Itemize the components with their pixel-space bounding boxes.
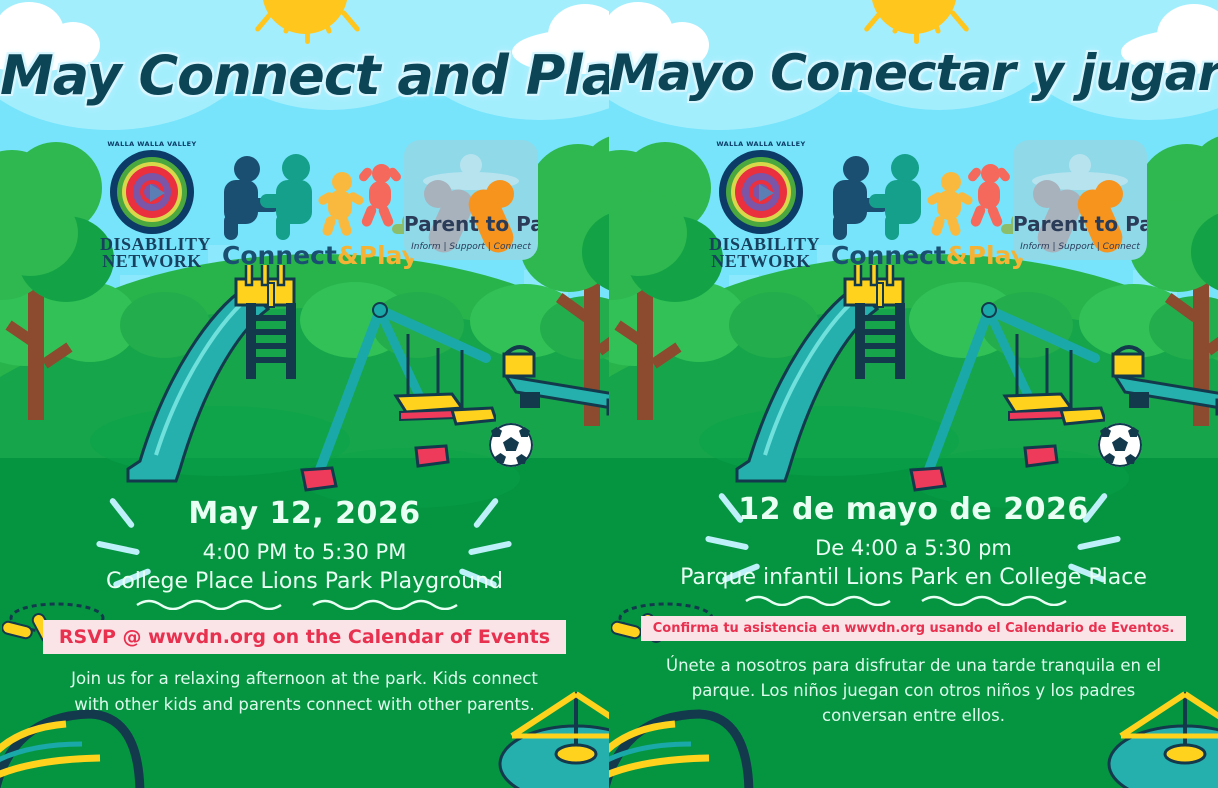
dn-line2: NETWORK [100,253,204,270]
logo-parent-to-parent: Parent to Parent Inform | Support | Conn… [1013,140,1147,260]
logo-parent-to-parent: Parent to Parent Inform | Support | Conn… [404,140,538,260]
cp-ampersand: & [946,241,968,270]
dn-arc-text: WALLA WALLA VALLEY [709,140,813,148]
rsvp-badge[interactable]: RSVP @ wwvdn.org on the Calendar of Even… [43,620,566,654]
connect-play-wordmark: Connect&Play [222,241,382,270]
connect-play-wordmark: Connect&Play [831,241,991,270]
logo-disability-network: WALLA WALLA VALLEY DISABILITY NETWORK [709,142,813,270]
connect-play-figures-icon [831,146,991,232]
dn-emblem-icon [719,150,803,234]
soccer-ball-icon [1098,423,1142,467]
event-details: May 12, 2026 4:00 PM to 5:30 PM College … [0,496,609,718]
event-location: Parque infantil Lions Park en College Pl… [609,565,1218,590]
connect-play-figures-icon [222,146,382,232]
dn-arc-text: WALLA WALLA VALLEY [100,140,204,148]
event-date: May 12, 2026 [0,496,609,531]
p2p-figures-icon [460,154,482,176]
event-details: 12 de mayo de 2026 De 4:00 a 5:30 pm Par… [609,492,1218,728]
playground-swing-set [296,300,496,500]
logo-connect-and-play: Connect&Play [222,146,382,268]
event-time: 4:00 PM to 5:30 PM [0,540,609,564]
p2p-name: Parent to Parent [404,212,538,236]
squiggle-underline [135,598,475,610]
poster-english: May Connect and Play WALLA WALLA VALLEY … [0,0,609,788]
cp-ampersand: & [337,241,359,270]
poster-spanish: Mayo Conectar y jugar WALLA WALLA VALLEY… [609,0,1218,788]
playground-slide [727,265,927,495]
rsvp-badge[interactable]: Confirma tu asistencia en wwvdn.org usan… [641,616,1187,641]
playground-swing-set [905,300,1105,500]
logo-row: WALLA WALLA VALLEY DISABILITY NETWORK [609,140,1218,270]
logo-row: WALLA WALLA VALLEY DISABILITY NETWORK [0,140,609,270]
p2p-tagline: Inform | Support | Connect [1013,242,1147,252]
playground-slide [118,265,318,495]
cp-word-connect: Connect [831,241,946,270]
dn-line2: NETWORK [709,253,813,270]
squiggle-underline [744,594,1084,606]
logo-connect-and-play: Connect&Play [831,146,991,268]
cp-word-connect: Connect [222,241,337,270]
p2p-tagline: Inform | Support | Connect [404,242,538,252]
logo-disability-network: WALLA WALLA VALLEY DISABILITY NETWORK [100,142,204,270]
event-location: College Place Lions Park Playground [0,569,609,594]
event-time: De 4:00 a 5:30 pm [609,536,1218,560]
event-date: 12 de mayo de 2026 [609,492,1218,527]
soccer-ball-icon [489,423,533,467]
p2p-name: Parent to Parent [1013,212,1147,236]
dn-emblem-icon [110,150,194,234]
poster-pair: May Connect and Play WALLA WALLA VALLEY … [0,0,1218,788]
poster-title: Mayo Conectar y jugar [609,44,1218,102]
sun-ray [305,16,310,44]
event-description: Join us for a relaxing afternoon at the … [0,666,609,718]
p2p-figures-icon [1069,154,1091,176]
sun-ray [914,16,919,44]
poster-title: May Connect and Play [0,44,609,107]
event-description: Únete a nosotros para disfrutar de una t… [609,653,1218,728]
